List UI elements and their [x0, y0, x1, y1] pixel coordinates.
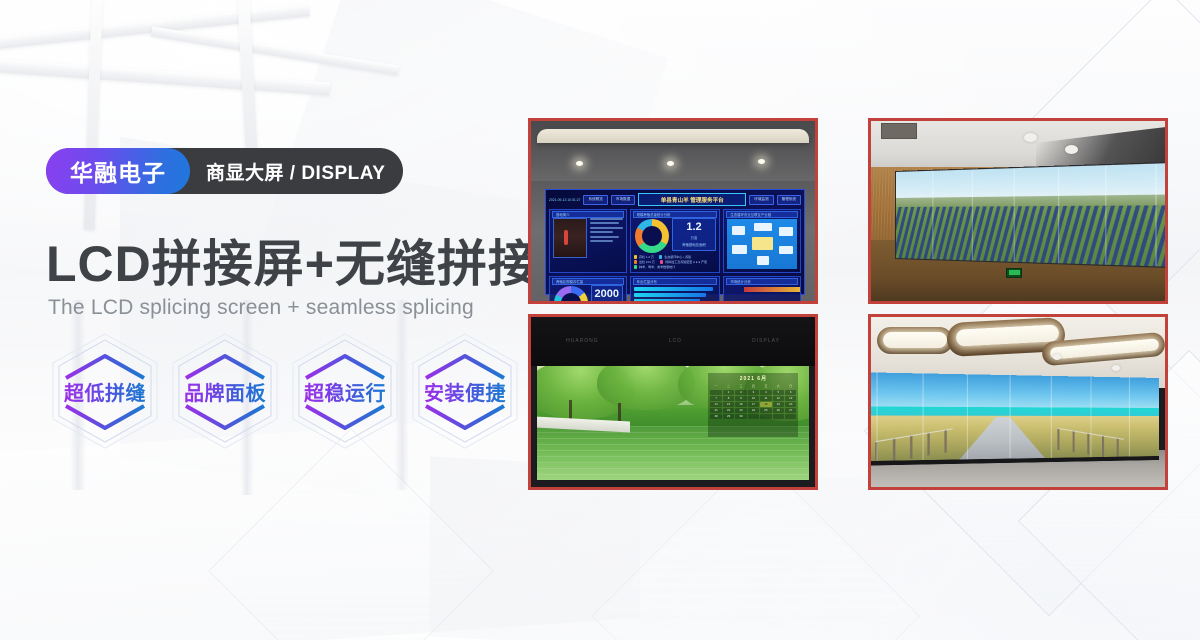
calendar-day: 17: [748, 402, 759, 407]
screen-pond-scene: 2021 6月 一 二 三 四 五 六 日 1 2 3: [537, 366, 810, 480]
dashboard-panel-industry-chain: 生态循环农业互联互产业链: [723, 209, 801, 273]
panel-seams: [895, 163, 1168, 269]
calendar-day: 14: [710, 402, 721, 407]
panel-header: 生态循环农业互联互产业链: [726, 211, 798, 218]
product-photo-grid: 2021-09-13 10:31:27 系统概览 市场数据 单县青山羊 管理服务…: [528, 118, 1172, 490]
kpi-card: 2000 头 年度出栏数量: [591, 285, 623, 304]
calendar-day: 13: [785, 396, 796, 401]
legend-label: 种羊、母羊、羔羊数量统计: [639, 265, 675, 269]
ceiling-light: [1112, 365, 1120, 371]
calendar-day: 21: [710, 408, 721, 413]
bezel-labels: HUARONG LCD DISPLAY: [531, 338, 815, 344]
donut-chart: [635, 219, 669, 253]
donut-chart: [554, 286, 588, 304]
screen-top-bezel: HUARONG LCD DISPLAY: [531, 317, 815, 366]
legend-item: 存栏 1.2 万: [634, 255, 654, 259]
calendar-day: 15: [723, 402, 734, 407]
feature-list: 超低拼缝 品牌面板: [46, 332, 524, 450]
photo-content: [871, 121, 1165, 301]
feature-label: 超稳运行: [304, 377, 386, 406]
product-photo-hall-boardwalk[interactable]: [868, 314, 1168, 490]
feature-label: 安装便捷: [424, 377, 506, 406]
ceiling-cove-light: [537, 129, 809, 143]
legend-item: 饲料加工及养殖配套 ● ● ● 产值: [660, 260, 707, 264]
dashboard-title: 单县青山羊 管理服务平台: [638, 193, 746, 206]
dashboard-tab[interactable]: 环境监测: [749, 195, 773, 205]
video-wall-screen: [868, 372, 1159, 467]
bar-item: [634, 293, 707, 297]
calendar-day: 28: [710, 414, 721, 419]
promo-banner: 华融电子 商显大屏 / DISPLAY LCD拼接屏+无缝拼接 The LCD …: [0, 0, 1200, 640]
headline-column: 华融电子 商显大屏 / DISPLAY LCD拼接屏+无缝拼接 The LCD …: [46, 0, 516, 640]
calendar-day: [785, 414, 796, 419]
calendar-weekday: 日: [785, 384, 796, 389]
calendar-day: 3: [748, 390, 759, 395]
calendar-day: 25: [760, 408, 771, 413]
kpi-unit: 万亩: [675, 235, 714, 240]
flow-node: [732, 245, 747, 254]
calendar-day: 6: [785, 390, 796, 395]
calendar-overlay: 2021 6月 一 二 三 四 五 六 日 1 2 3: [708, 373, 798, 437]
dashboard-panel-intro: 基地简介: [549, 209, 627, 273]
pie-chart: [767, 302, 793, 305]
bar-item: [634, 299, 700, 303]
flow-node: [779, 246, 793, 254]
legend-label: 出栏 101 万: [639, 260, 655, 264]
kpi-unit: 头: [594, 302, 620, 304]
dashboard-panel-output-distribution: 年出栏量分布: [630, 276, 721, 304]
brand-name: 华融电子: [46, 148, 190, 194]
calendar-weekday: 一: [710, 384, 721, 389]
calendar-day: 16: [735, 402, 746, 407]
calendar-day: 24: [748, 408, 759, 413]
panel-header: 养殖区规模存栏量: [552, 278, 624, 285]
ceiling-vent: [881, 123, 917, 139]
chart-legend: 存栏 1.2 万 生态循环中心 • 养殖 出栏 101 万: [634, 253, 717, 269]
calendar-weekday: 二: [723, 384, 734, 389]
bezel-label: LCD: [669, 338, 682, 344]
calendar-day: 23: [735, 408, 746, 413]
legend-item: 生态循环中心 • 养殖: [659, 255, 691, 259]
legend-label: 饲料加工及养殖配套 ● ● ● 产值: [665, 260, 707, 264]
panel-header: 年出栏量分布: [633, 278, 718, 285]
panel-header: 基地简介: [552, 211, 624, 218]
bezel-label: DISPLAY: [752, 338, 780, 344]
dashboard-tab[interactable]: 市场数据: [611, 195, 635, 205]
flow-diagram: [727, 219, 797, 269]
photo-content: 2021-09-13 10:31:27 系统概览 市场数据 单县青山羊 管理服务…: [531, 121, 815, 301]
ceiling-light: [1024, 133, 1037, 142]
cove-light: [883, 332, 948, 347]
kpi-caption: 养殖基地总面积: [675, 242, 714, 247]
page-subtitle: The LCD splicing screen + seamless splic…: [48, 296, 474, 320]
kpi-value: 2000: [594, 289, 620, 300]
feature-item-3: 安装便捷: [406, 332, 524, 450]
panel-text-block: [590, 218, 623, 244]
calendar-weekday: 四: [748, 384, 759, 389]
calendar-day: 2: [735, 390, 746, 395]
feature-label: 超低拼缝: [64, 377, 146, 406]
flow-node: [779, 227, 793, 236]
calendar-day-marked: 18: [760, 402, 771, 407]
calendar-weekday: 三: [735, 384, 746, 389]
calendar-day: 5: [773, 390, 784, 395]
calendar-day: 19: [773, 402, 784, 407]
video-wall-screen: [895, 161, 1168, 270]
calendar-day: 8: [723, 396, 734, 401]
exit-sign: [1006, 268, 1022, 278]
calendar-grid: 一 二 三 四 五 六 日 1 2 3 4 5: [710, 384, 796, 419]
calendar-weekday: 六: [773, 384, 784, 389]
photo-content: HUARONG LCD DISPLAY: [531, 317, 815, 487]
product-photo-control-room[interactable]: 2021-09-13 10:31:27 系统概览 市场数据 单县青山羊 管理服务…: [528, 118, 818, 304]
flow-node: [754, 223, 772, 231]
dashboard-tab[interactable]: 系统概览: [583, 195, 607, 205]
feature-item-1: 品牌面板: [166, 332, 284, 450]
calendar-day: [748, 414, 759, 419]
calendar-day: 7: [710, 396, 721, 401]
dashboard-panel-stock: 养殖区规模存栏量 2000 头 年度出栏数量 种羊 育肥羊: [549, 276, 627, 304]
page-title: LCD拼接屏+无缝拼接: [46, 224, 539, 296]
panel-header: 规模养殖总量统计分析: [633, 211, 718, 218]
calendar-day: 9: [735, 396, 746, 401]
product-photo-willow-pond[interactable]: HUARONG LCD DISPLAY: [528, 314, 818, 490]
legend-label: 存栏 1.2 万: [639, 255, 654, 259]
bezel-label: HUARONG: [566, 338, 599, 344]
calendar-day: 4: [760, 390, 771, 395]
calendar-day: 22: [723, 408, 734, 413]
feature-item-2: 超稳运行: [286, 332, 404, 450]
calendar-day: 26: [773, 408, 784, 413]
calendar-day: 29: [723, 414, 734, 419]
calendar-day: 10: [748, 396, 759, 401]
badge-category-label: 商显大屏 / DISPLAY: [190, 158, 385, 185]
kpi-card: 1.2 万亩 养殖基地总面积: [672, 218, 717, 251]
calendar-day: [710, 390, 721, 395]
panel-seams: [868, 372, 1159, 462]
dashboard-tab[interactable]: 管理系统: [777, 195, 801, 205]
legend-label: 生态循环中心 • 养殖: [664, 255, 691, 259]
dashboard-header: 2021-09-13 10:31:27 系统概览 市场数据 单县青山羊 管理服务…: [549, 193, 801, 206]
feature-item-0: 超低拼缝: [46, 332, 164, 450]
dashboard-timestamp: 2021-09-13 10:31:27: [549, 198, 580, 202]
flow-node: [732, 226, 746, 235]
calendar-title: 2021 6月: [710, 375, 796, 382]
calendar-day: 30: [735, 414, 746, 419]
brand-badge: 华融电子 商显大屏 / DISPLAY: [46, 148, 403, 194]
legend-item: 出栏 101 万: [634, 260, 655, 264]
calendar-day: 1: [723, 390, 734, 395]
flow-node: [757, 256, 770, 265]
product-photo-wood-wall[interactable]: [868, 118, 1168, 304]
ceiling-light: [1065, 145, 1078, 154]
calendar-day: 12: [773, 396, 784, 401]
calendar-day: 11: [760, 396, 771, 401]
calendar-day: 20: [785, 402, 796, 407]
calendar-day: 27: [785, 408, 796, 413]
dashboard-screen: 2021-09-13 10:31:27 系统概览 市场数据 单县青山羊 管理服务…: [545, 189, 805, 295]
panel-thumbnail: [553, 218, 587, 258]
photo-content: [871, 317, 1165, 487]
feature-label: 品牌面板: [184, 377, 266, 406]
bar-item: [634, 287, 714, 291]
legend-item: 种羊、母羊、羔羊数量统计: [634, 265, 676, 269]
bar-chart: [634, 285, 717, 304]
calendar-weekday: 五: [760, 384, 771, 389]
calendar-day: [760, 414, 771, 419]
dashboard-row: 基地简介 规模养殖总量统计分析: [549, 209, 801, 273]
pie-chart: [732, 302, 758, 305]
kpi-value: 1.2: [675, 222, 714, 233]
dashboard-footer-bar: [744, 287, 800, 292]
panel-header: 市场统计分析: [726, 278, 798, 285]
dashboard-panel-breeding-stats: 规模养殖总量统计分析 1.2 万亩 养殖基地总面积: [630, 209, 721, 273]
calendar-day: [773, 414, 784, 419]
flow-node-center: [752, 237, 773, 250]
